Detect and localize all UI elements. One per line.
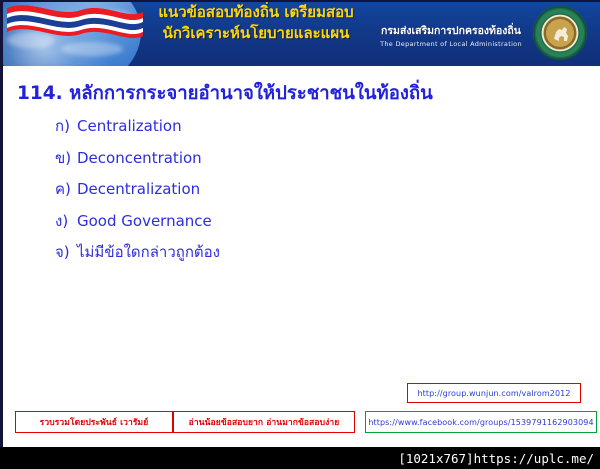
answer-options-list: ก) Centralization ข) Deconcentration ค) … (55, 119, 600, 260)
group-url-link[interactable]: http://group.wunjun.com/valrom2012 (417, 389, 570, 398)
answer-option[interactable]: ค) Decentralization (55, 182, 600, 197)
motto-text: อ่านน้อยข้อสอบยาก อ่านมากข้อสอบง่าย (189, 415, 340, 429)
motto-box: อ่านน้อยข้อสอบยาก อ่านมากข้อสอบง่าย (173, 411, 355, 433)
status-bar: [1021x767]https://uplc.me/ (0, 447, 600, 469)
credit-box: รวบรวมโดยประพันธ์ เวารัมย์ (15, 411, 173, 433)
department-seal-icon (532, 5, 588, 61)
footer-boxes: รวบรวมโดยประพันธ์ เวารัมย์ อ่านน้อยข้อสอ… (3, 381, 600, 443)
answer-option-label: Decentralization (77, 182, 200, 197)
answer-option-key: จ) (55, 245, 77, 260)
question-text: 114. หลักการกระจายอำนาจให้ประชาชนในท้องถ… (17, 82, 600, 105)
answer-option[interactable]: ง) Good Governance (55, 214, 600, 229)
answer-option-key: ค) (55, 182, 77, 197)
department-name-thai: กรมส่งเสริมการปกครองท้องถิ่น (375, 22, 527, 39)
answer-option[interactable]: ข) Deconcentration (55, 151, 600, 166)
department-name-english: The Department of Local Administration (375, 40, 527, 48)
slide-header-banner: แนวข้อสอบท้องถิ่น เตรียมสอบ นักวิเคราะห์… (3, 2, 600, 66)
answer-option[interactable]: ก) Centralization (55, 119, 600, 134)
facebook-url-link[interactable]: https://www.facebook.com/groups/15397911… (368, 418, 593, 427)
facebook-url-box[interactable]: https://www.facebook.com/groups/15397911… (365, 411, 597, 433)
slide: แนวข้อสอบท้องถิ่น เตรียมสอบ นักวิเคราะห์… (0, 0, 600, 447)
header-title-line-2: นักวิเคราะห์นโยบายและแผน (115, 25, 397, 43)
header-title-group: แนวข้อสอบท้องถิ่น เตรียมสอบ นักวิเคราะห์… (115, 4, 397, 42)
answer-option-label: Deconcentration (77, 151, 202, 166)
answer-option[interactable]: จ) ไม่มีข้อใดกล่าวถูกต้อง (55, 245, 600, 260)
header-title-line-1: แนวข้อสอบท้องถิ่น เตรียมสอบ (115, 4, 397, 22)
answer-option-key: ง) (55, 214, 77, 229)
group-url-box[interactable]: http://group.wunjun.com/valrom2012 (407, 383, 581, 403)
answer-option-label: ไม่มีข้อใดกล่าวถูกต้อง (77, 245, 220, 260)
slide-body: 114. หลักการกระจายอำนาจให้ประชาชนในท้องถ… (3, 66, 600, 447)
screenshot-root: แนวข้อสอบท้องถิ่น เตรียมสอบ นักวิเคราะห์… (0, 0, 600, 469)
answer-option-label: Centralization (77, 119, 182, 134)
department-name-group: กรมส่งเสริมการปกครองท้องถิ่น The Departm… (375, 22, 527, 48)
answer-option-label: Good Governance (77, 214, 212, 229)
status-bar-text: [1021x767]https://uplc.me/ (398, 451, 594, 466)
credit-text: รวบรวมโดยประพันธ์ เวารัมย์ (40, 415, 149, 429)
answer-option-key: ก) (55, 119, 77, 134)
answer-option-key: ข) (55, 151, 77, 166)
